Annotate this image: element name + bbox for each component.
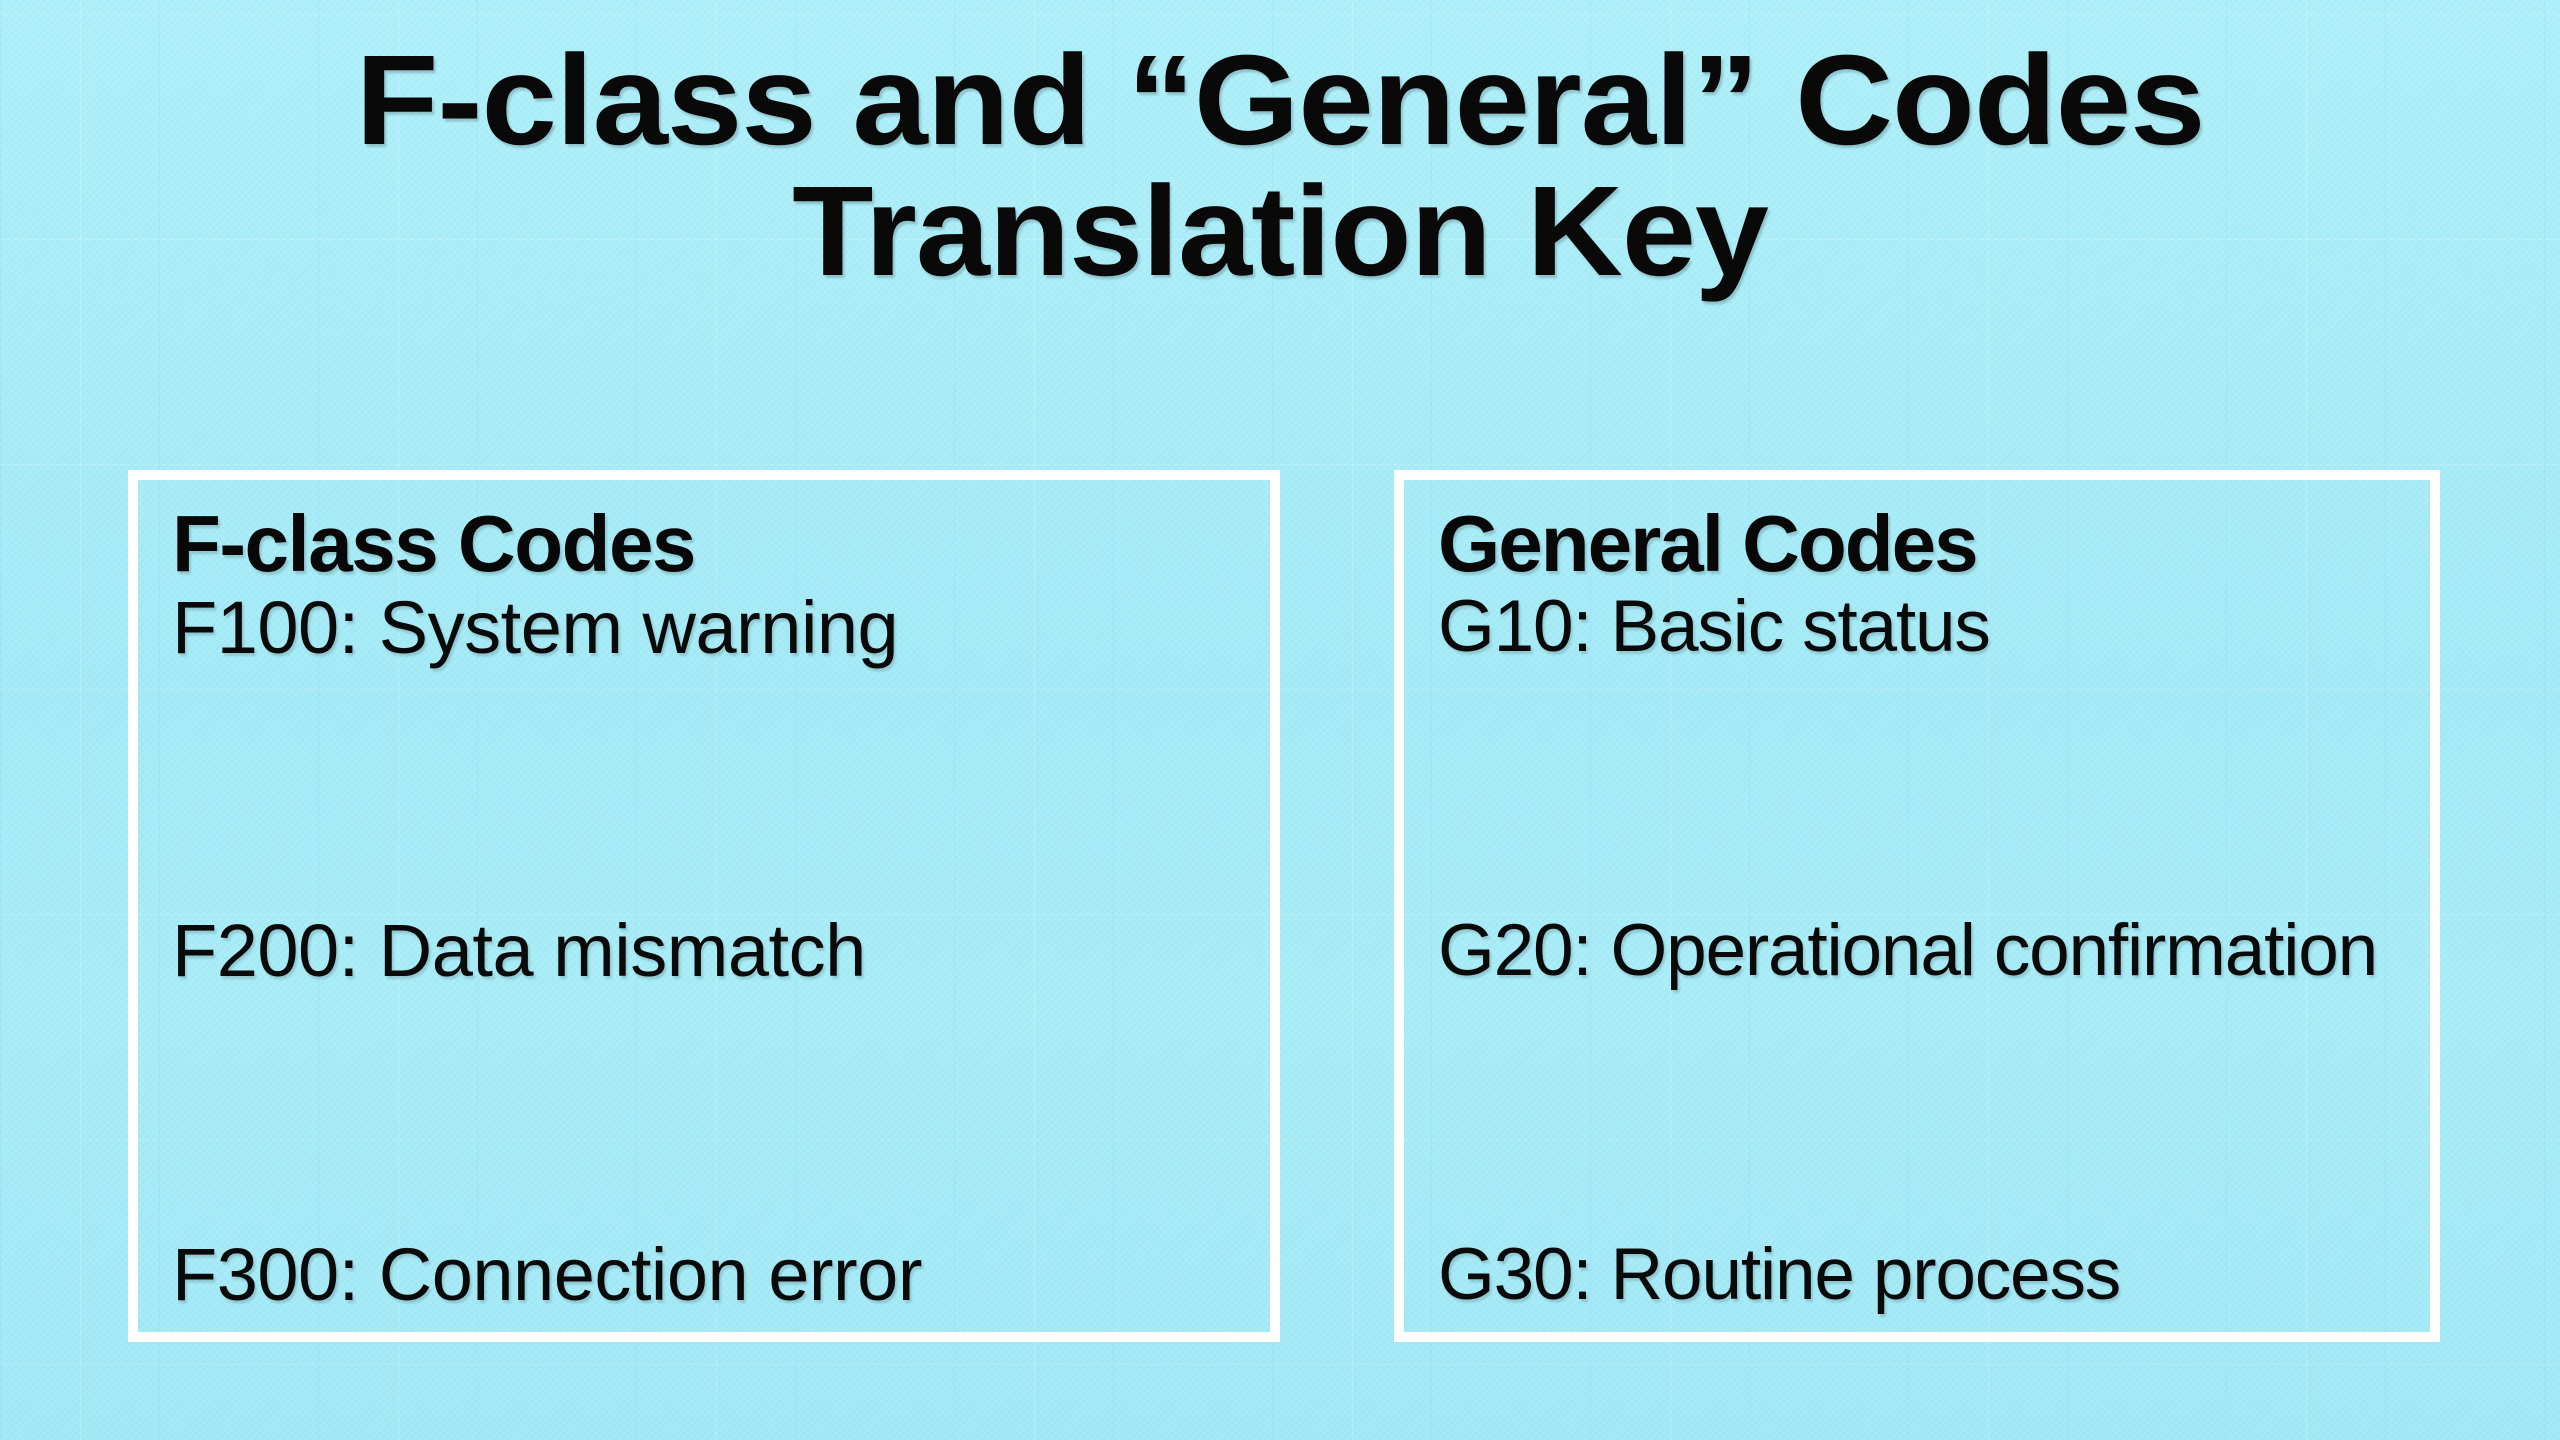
general-codes-list: G10: Basic status G20: Operational confi… (1438, 590, 2404, 1312)
f-class-codes-card: F-class Codes F100: System warning F200:… (128, 470, 1280, 1342)
list-item: F100: System warning (172, 590, 1244, 913)
list-item: F300: Connection error (172, 1237, 1244, 1312)
list-item: F200: Data mismatch (172, 913, 1244, 1236)
f-class-codes-heading: F-class Codes (172, 504, 1244, 584)
page-title-line-2: Translation Key (0, 167, 2560, 298)
list-item: G10: Basic status (1438, 590, 2404, 914)
general-codes-card: General Codes G10: Basic status G20: Ope… (1394, 470, 2440, 1342)
list-item: G30: Routine process (1438, 1238, 2404, 1312)
f-class-codes-list: F100: System warning F200: Data mismatch… (172, 590, 1244, 1312)
page-title-line-1: F-class and “General” Codes (0, 36, 2560, 167)
page-title: F-class and “General” Codes Translation … (0, 36, 2560, 297)
list-item: G20: Operational confirmation (1438, 914, 2404, 1238)
general-codes-heading: General Codes (1438, 504, 2404, 584)
code-tables: F-class Codes F100: System warning F200:… (128, 470, 2440, 1342)
